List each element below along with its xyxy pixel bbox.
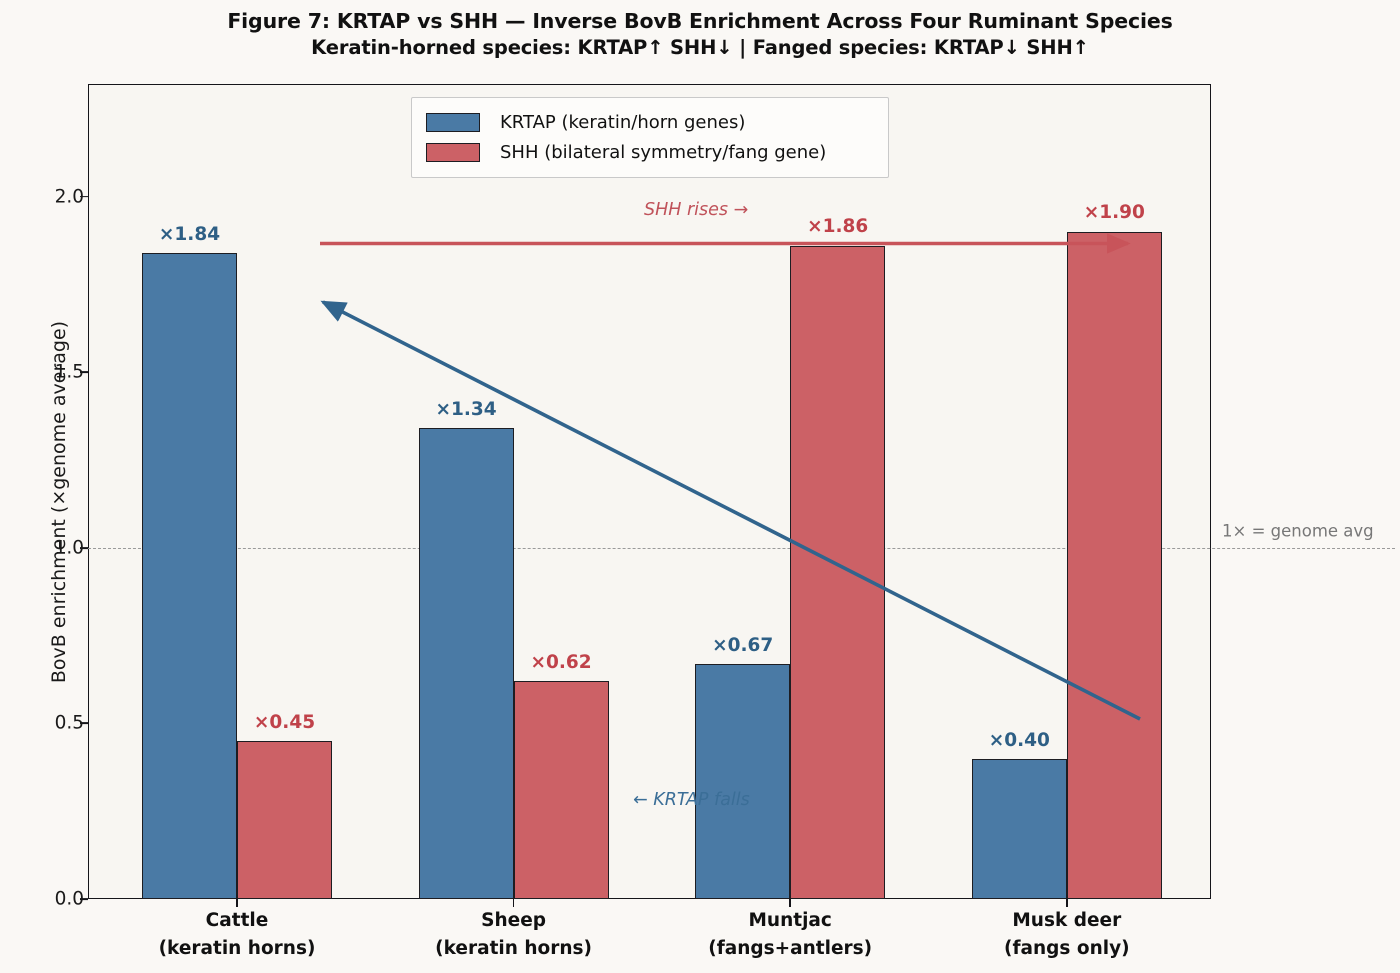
legend-item-krtap[interactable]: KRTAP (keratin/horn genes): [426, 107, 876, 137]
bar-shh-musk-deer[interactable]: [1067, 232, 1162, 899]
bar-krtap-muntjac[interactable]: [695, 664, 790, 899]
bar-shh-cattle[interactable]: [237, 741, 332, 899]
legend-swatch-krtap-icon: [426, 113, 480, 132]
y-axis-label: BovB enrichment (×genome average): [48, 102, 70, 902]
x-tick-mark-musk-deer: [1066, 899, 1068, 907]
y-tick-label-4: 2.0: [24, 186, 84, 207]
figure-title-block: Figure 7: KRTAP vs SHH — Inverse BovB En…: [0, 8, 1400, 61]
x-tick-label-sheep-line2: (keratin horns): [384, 935, 644, 963]
bar-label-krtap-sheep: ×1.34: [391, 399, 541, 420]
x-tick-label-cattle-line2: (keratin horns): [107, 935, 367, 963]
legend-swatch-shh-icon: [426, 143, 480, 162]
figure-subtitle: Keratin-horned species: KRTAP↑ SHH↓ | Fa…: [0, 35, 1400, 61]
x-tick-label-musk-deer-line1: Musk deer: [937, 907, 1197, 935]
legend: KRTAP (keratin/horn genes) SHH (bilatera…: [411, 97, 889, 178]
x-tick-mark-sheep: [513, 899, 515, 907]
y-tick-label-2: 1.0: [24, 537, 84, 558]
bar-krtap-musk-deer[interactable]: [972, 759, 1067, 899]
bar-label-shh-sheep: ×0.62: [486, 652, 636, 673]
bar-label-krtap-cattle: ×1.84: [115, 224, 265, 245]
bar-label-shh-musk-deer: ×1.90: [1039, 202, 1189, 223]
bar-krtap-cattle[interactable]: [142, 253, 237, 899]
annotation-shh-rises: SHH rises →: [644, 200, 748, 220]
y-tick-label-3: 1.5: [24, 362, 84, 383]
annotation-krtap-falls: ← KRTAP falls: [633, 790, 750, 810]
reference-line-label: 1× = genome avg: [1222, 522, 1374, 541]
x-tick-label-musk-deer: Musk deer (fangs only): [937, 907, 1197, 963]
legend-label-shh: SHH (bilateral symmetry/fang gene): [500, 142, 826, 163]
x-tick-label-muntjac-line2: (fangs+antlers): [660, 935, 920, 963]
bar-shh-sheep[interactable]: [514, 681, 609, 899]
x-tick-label-sheep-line1: Sheep: [384, 907, 644, 935]
bar-shh-muntjac[interactable]: [790, 246, 885, 899]
figure-canvas: Figure 7: KRTAP vs SHH — Inverse BovB En…: [0, 0, 1400, 973]
x-tick-label-muntjac: Muntjac (fangs+antlers): [660, 907, 920, 963]
y-tick-label-1: 0.5: [24, 713, 84, 734]
x-tick-label-cattle-line1: Cattle: [107, 907, 367, 935]
figure-title: Figure 7: KRTAP vs SHH — Inverse BovB En…: [0, 8, 1400, 35]
legend-item-shh[interactable]: SHH (bilateral symmetry/fang gene): [426, 137, 876, 167]
reference-line-1x: [88, 548, 1395, 549]
y-tick-label-0: 0.0: [24, 889, 84, 910]
x-tick-mark-cattle: [236, 899, 238, 907]
x-tick-label-cattle: Cattle (keratin horns): [107, 907, 367, 963]
legend-label-krtap: KRTAP (keratin/horn genes): [500, 112, 745, 133]
x-tick-label-sheep: Sheep (keratin horns): [384, 907, 644, 963]
bar-label-shh-cattle: ×0.45: [210, 712, 360, 733]
x-tick-mark-muntjac: [789, 899, 791, 907]
x-tick-label-musk-deer-line2: (fangs only): [937, 935, 1197, 963]
x-tick-label-muntjac-line1: Muntjac: [660, 907, 920, 935]
bar-label-shh-muntjac: ×1.86: [763, 216, 913, 237]
